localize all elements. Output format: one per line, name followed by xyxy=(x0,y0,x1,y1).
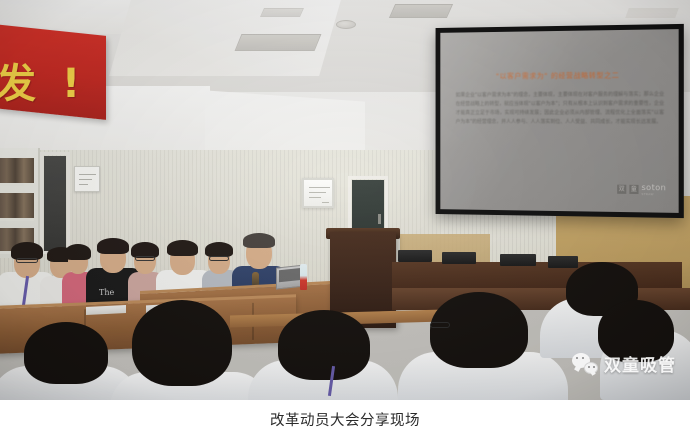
page-root: 发 ! "以客户需求为" 的经营战略转型之二 如果企业"以客户需求为本"的理念，… xyxy=(0,0,690,438)
ceiling-vent-icon xyxy=(260,8,304,17)
caption-bar: 改革动员大会分享现场 xyxy=(0,400,690,438)
red-slogan-banner: 发 ! xyxy=(0,24,106,120)
slide-logo-word: soton xyxy=(641,183,666,192)
desk-nameplate xyxy=(442,252,476,264)
projection-screen: "以客户需求为" 的经营战略转型之二 如果企业"以客户需求为本"的理念，主要体现… xyxy=(436,24,684,218)
slide-logo-mark-1: 双 xyxy=(617,185,626,194)
ceiling-vent-icon xyxy=(389,4,453,18)
slide-brand-logo: 双 童 soton STRAW xyxy=(617,183,666,197)
slide-logo-subtitle: STRAW xyxy=(641,192,666,196)
desk-nameplate xyxy=(548,256,578,268)
glasses-icon xyxy=(135,256,155,261)
door-handle-icon xyxy=(378,214,381,224)
water-bottle xyxy=(300,264,307,290)
glasses-icon xyxy=(209,256,229,261)
slide-title: "以客户需求为" 的经营战略转型之二 xyxy=(440,70,678,82)
slide-body-text: 如果企业"以客户需求为本"的理念，主要体现，主要体现在对客户服务的理解与落实；那… xyxy=(456,90,665,127)
meeting-photo: 发 ! "以客户需求为" 的经营战略转型之二 如果企业"以客户需求为本"的理念，… xyxy=(0,0,690,400)
shelf-books xyxy=(0,158,34,186)
bookshelf xyxy=(0,148,40,258)
slide-logo-mark-2: 童 xyxy=(629,185,638,194)
smoke-detector-icon xyxy=(336,20,356,29)
wall-sign-left xyxy=(74,166,100,192)
photo-caption: 改革动员大会分享现场 xyxy=(270,409,420,430)
ceiling-vent-icon xyxy=(235,34,322,51)
tshirt-print: The xyxy=(99,288,114,297)
desk-nameplate xyxy=(398,250,432,262)
glasses-icon xyxy=(430,322,450,328)
shelf-books xyxy=(0,193,34,221)
projection-screen-surface: "以客户需求为" 的经营战略转型之二 如果企业"以客户需求为本"的理念，主要体现… xyxy=(440,29,678,213)
ceiling-light xyxy=(625,8,679,18)
desk-nameplate xyxy=(500,254,536,266)
wall-sign-center xyxy=(302,178,334,208)
left-door-frame xyxy=(40,152,70,254)
banner-text: 发 ! xyxy=(0,51,86,109)
glasses-icon xyxy=(16,258,38,263)
